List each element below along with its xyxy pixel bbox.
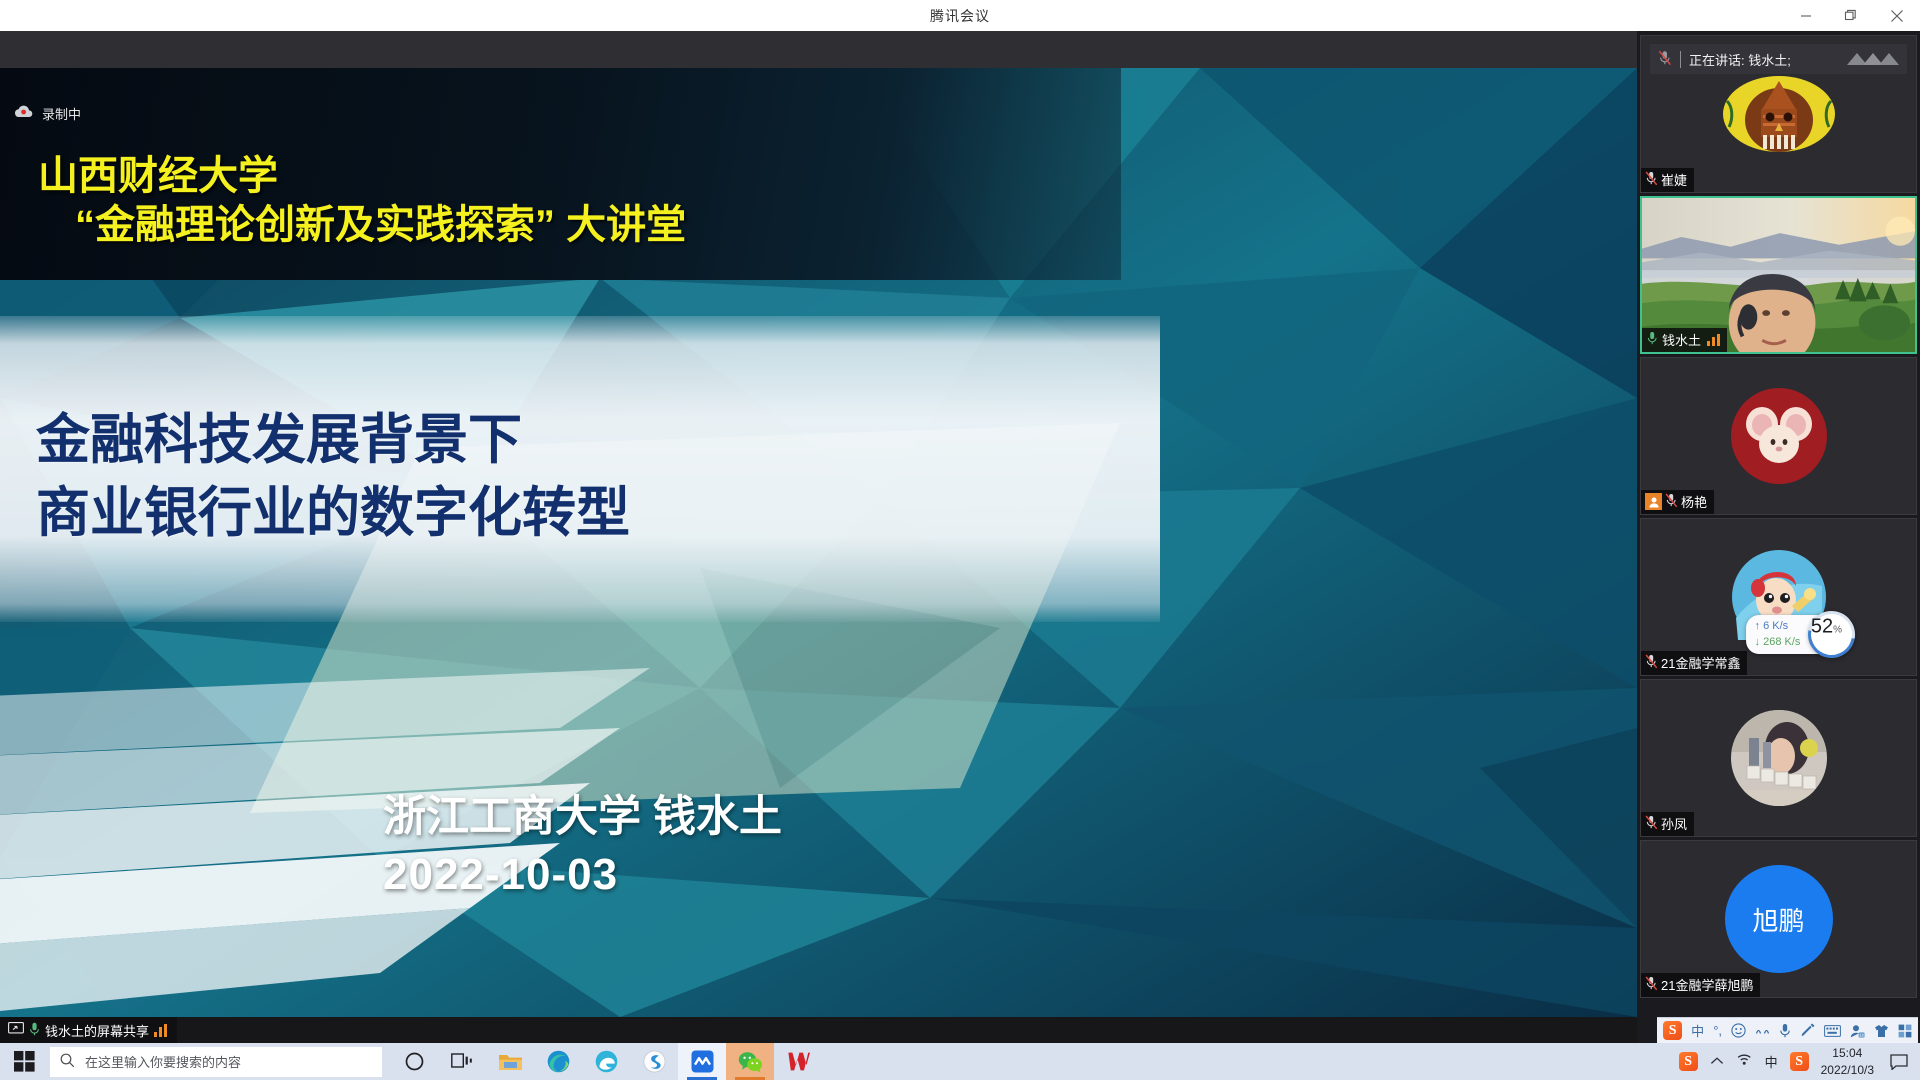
- user-center-icon[interactable]: 12: [1850, 1024, 1865, 1038]
- participant-tile[interactable]: 孙凤: [1640, 679, 1917, 837]
- upload-speed: 6 K/s: [1763, 620, 1788, 632]
- chevron-up-icon[interactable]: [1710, 1053, 1724, 1071]
- meeting-window: 录制中: [0, 31, 1920, 1043]
- participant-tile[interactable]: ↑ 6 K/s ↓ 268 K/s 52 %: [1640, 518, 1917, 676]
- download-arrow-icon: ↓: [1755, 636, 1761, 648]
- participant-name-chip: 21金融学常鑫: [1641, 651, 1747, 675]
- edge-legacy-icon[interactable]: [582, 1043, 630, 1080]
- host-badge-icon: [1645, 493, 1662, 510]
- participant-name: 钱水土: [1662, 330, 1701, 349]
- participant-name: 21金融学常鑫: [1661, 653, 1740, 672]
- slide-presenter: 浙江工商大学 钱水土: [383, 790, 782, 846]
- share-bottom-bar: 钱水土的屏幕共享: [0, 1017, 1637, 1043]
- share-status-chip: 钱水土的屏幕共享: [0, 1017, 177, 1043]
- microphone-muted-icon: [1645, 815, 1658, 833]
- initials-avatar: 旭鹏: [1725, 865, 1833, 973]
- speaking-label: 正在讲话: 钱水土;: [1689, 50, 1791, 69]
- screen-share-icon: [8, 1022, 24, 1038]
- minimize-button[interactable]: [1783, 0, 1828, 31]
- search-placeholder: 在这里输入你要搜索的内容: [85, 1052, 241, 1071]
- participant-name-chip: 崔婕: [1641, 168, 1694, 192]
- mouse-avatar-image: [1729, 386, 1829, 486]
- chinese-mode-icon[interactable]: 中: [1691, 1021, 1704, 1040]
- ime-toolbar[interactable]: S 中 °, 12: [1657, 1017, 1918, 1043]
- wps-icon[interactable]: [774, 1043, 822, 1080]
- action-center-icon[interactable]: [1886, 1054, 1912, 1070]
- taskbar-apps: [390, 1043, 822, 1080]
- speaking-banner: 正在讲话: 钱水土;: [1650, 44, 1907, 74]
- participant-name: 杨艳: [1681, 492, 1707, 511]
- share-label: 钱水土的屏幕共享: [45, 1021, 149, 1040]
- toolbox-icon[interactable]: [1898, 1024, 1912, 1038]
- svg-text:12: 12: [1859, 1032, 1864, 1037]
- recording-indicator: 录制中: [14, 104, 81, 123]
- window-controls: [1783, 0, 1920, 31]
- audio-wave-icon: [1847, 49, 1899, 69]
- participant-name-chip: 钱水土: [1642, 328, 1727, 352]
- voice-input-icon[interactable]: [1779, 1023, 1791, 1038]
- photo-avatar-image: [1729, 708, 1829, 808]
- participant-tile[interactable]: 钱水土: [1640, 196, 1917, 354]
- owl-avatar-image: [1721, 73, 1837, 155]
- skin-icon[interactable]: [1874, 1024, 1889, 1038]
- punctuation-icon[interactable]: °,: [1713, 1023, 1722, 1038]
- shared-screen-area: 录制中: [0, 31, 1637, 1043]
- participant-name: 21金融学薛旭鹏: [1661, 975, 1753, 994]
- ime-chinese-icon[interactable]: 中: [1765, 1052, 1778, 1071]
- slide-presenter-block: 浙江工商大学 钱水土 2022-10-03: [383, 790, 782, 903]
- slide-title-line1: 金融科技发展背景下: [36, 404, 630, 477]
- participant-panel[interactable]: 正在讲话: 钱水土;: [1637, 31, 1920, 1043]
- slide-title: 金融科技发展背景下 商业银行业的数字化转型: [36, 404, 630, 550]
- participant-name-chip: 杨艳: [1641, 490, 1714, 514]
- emoji-icon[interactable]: [1731, 1023, 1746, 1038]
- sogou-logo-icon[interactable]: S: [1663, 1021, 1682, 1040]
- share-top-strip: [0, 31, 1637, 68]
- system-tray: S 中 S 15:04 2022/10/3: [1679, 1045, 1920, 1077]
- task-view-icon[interactable]: [438, 1043, 486, 1080]
- download-speed: 268 K/s: [1763, 636, 1800, 648]
- windows-start-icon[interactable]: [0, 1043, 48, 1080]
- slide-heading: 山西财经大学 “金融理论创新及实践探索” 大讲堂: [38, 152, 686, 250]
- soft-keyboard-icon[interactable]: [1824, 1025, 1841, 1037]
- sogou-browser-icon[interactable]: [630, 1043, 678, 1080]
- search-icon: [60, 1053, 75, 1071]
- microphone-icon: [29, 1022, 40, 1039]
- audio-level-icon: [1707, 334, 1720, 346]
- taskbar-clock[interactable]: 15:04 2022/10/3: [1821, 1045, 1874, 1077]
- handwriting-icon[interactable]: [1800, 1023, 1815, 1038]
- microphone-muted-icon: [1645, 976, 1658, 994]
- slide-heading-line2: “金融理论创新及实践探索” 大讲堂: [75, 201, 686, 250]
- close-button[interactable]: [1873, 0, 1920, 31]
- file-explorer-icon[interactable]: [486, 1043, 534, 1080]
- participant-tile[interactable]: 旭鹏 21金融学薛旭鹏: [1640, 840, 1917, 998]
- cpu-usage-value: 52: [1811, 616, 1833, 639]
- cpu-usage-unit: %: [1833, 625, 1842, 636]
- clock-date: 2022/10/3: [1821, 1062, 1874, 1078]
- wechat-icon[interactable]: [726, 1043, 774, 1080]
- slide-heading-line1: 山西财经大学: [38, 152, 686, 201]
- tencent-meeting-icon[interactable]: [678, 1043, 726, 1080]
- participant-name: 孙凤: [1661, 814, 1687, 833]
- restore-button[interactable]: [1828, 0, 1873, 31]
- microphone-muted-icon: [1645, 654, 1658, 672]
- sogou-pinyin-icon[interactable]: S: [1679, 1052, 1698, 1071]
- upload-arrow-icon: ↑: [1755, 620, 1761, 632]
- slide-title-line2: 商业银行业的数字化转型: [36, 477, 630, 550]
- participant-tile[interactable]: 正在讲话: 钱水土;: [1640, 35, 1917, 193]
- window-title: 腾讯会议: [930, 6, 990, 26]
- upload-speed-row: ↑ 6 K/s: [1755, 619, 1801, 635]
- participant-name-chip: 孙凤: [1641, 812, 1694, 836]
- window-titlebar: 腾讯会议: [0, 0, 1920, 31]
- cpu-usage-gauge: 52 %: [1799, 602, 1864, 667]
- microphone-icon: [1646, 331, 1659, 349]
- presentation-slide: 山西财经大学 “金融理论创新及实践探索” 大讲堂 金融科技发展背景下 商业银行业…: [0, 68, 1637, 1017]
- sogou-tray-icon[interactable]: S: [1790, 1052, 1809, 1071]
- download-speed-row: ↓ 268 K/s: [1755, 635, 1801, 651]
- microphone-muted-icon: [1658, 50, 1672, 69]
- participant-tile[interactable]: 杨艳: [1640, 357, 1917, 515]
- banner-divider: [1680, 51, 1681, 68]
- wifi-icon[interactable]: [1736, 1052, 1753, 1071]
- edge-icon[interactable]: [534, 1043, 582, 1080]
- audio-level-icon: [154, 1024, 167, 1037]
- microphone-muted-icon: [1645, 171, 1658, 189]
- participant-name-chip: 21金融学薛旭鹏: [1641, 973, 1760, 997]
- cortana-icon[interactable]: [390, 1043, 438, 1080]
- search-input[interactable]: 在这里输入你要搜索的内容: [50, 1047, 382, 1077]
- windows-taskbar: 在这里输入你要搜索的内容: [0, 1043, 1920, 1080]
- slide-date: 2022-10-03: [383, 846, 782, 903]
- participant-name: 崔婕: [1661, 170, 1687, 189]
- expression-icon[interactable]: [1755, 1025, 1770, 1037]
- microphone-muted-icon: [1665, 493, 1678, 511]
- cloud-record-icon: [14, 104, 33, 123]
- screen: 腾讯会议: [0, 0, 1920, 1080]
- clock-time: 15:04: [1821, 1045, 1874, 1061]
- avatar-initials: 旭鹏: [1752, 901, 1804, 938]
- recording-label: 录制中: [42, 104, 81, 123]
- network-speed-widget: ↑ 6 K/s ↓ 268 K/s 52 %: [1746, 611, 1856, 658]
